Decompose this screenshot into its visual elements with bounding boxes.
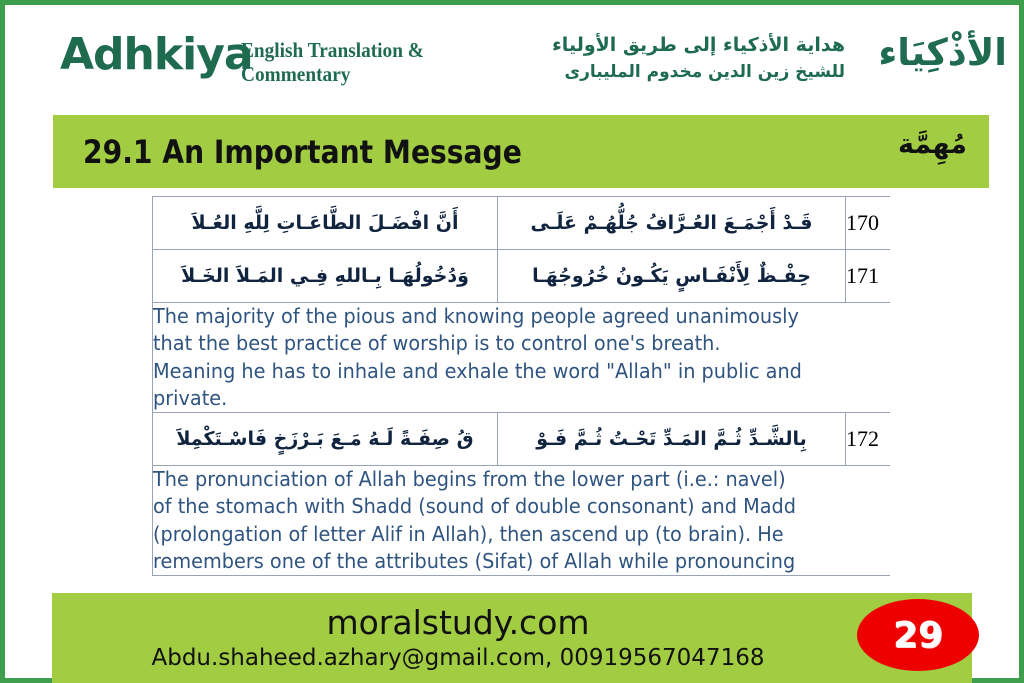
verse-number: 170: [846, 197, 891, 250]
commentary-line: remembers one of the attributes (Sifat) …: [153, 548, 846, 575]
slide-root: Adhkiya English Translation & Commentary…: [0, 0, 1024, 683]
brand-subtitle: English Translation & Commentary: [241, 39, 453, 86]
contact-info[interactable]: Abdu.shaheed.azhary@gmail.com, 009195670…: [52, 645, 864, 671]
commentary-line: The pronunciation of Allah begins from t…: [153, 466, 846, 493]
verse-hemistich-left: قُ صِفَـةً لَـهُ مَـعَ بَـرْزَخٍ فَاسْـت…: [153, 413, 498, 466]
verse-row: وَدُخُولُهَـا بِـاللهِ فِـي المَـلاَ الخ…: [153, 250, 891, 303]
verse-row: قُ صِفَـةً لَـهُ مَـعَ بَـرْزَخٍ فَاسْـت…: [153, 413, 891, 466]
arabic-book-subtitle-line-2: للشيخ زين الدين مخدوم المليبارى: [525, 60, 845, 86]
commentary-line: that the best practice of worship is to …: [153, 330, 846, 357]
verse-table: أَنَّ افْضَـلَ الطَّاعَـاتِ لِلَّهِ العُ…: [152, 196, 890, 576]
verse-table-container: أَنَّ افْضَـلَ الطَّاعَـاتِ لِلَّهِ العُ…: [152, 196, 890, 588]
commentary-text: The majority of the pious and knowing pe…: [153, 303, 891, 413]
commentary-line: The majority of the pious and knowing pe…: [153, 303, 846, 330]
verse-number: 172: [846, 413, 891, 466]
commentary-line: Meaning he has to inhale and exhale the …: [153, 358, 846, 385]
arabic-book-subtitle: هداية الأذكياء إلى طريق الأولياء للشيخ ز…: [525, 31, 845, 85]
commentary-line: (prolongation of letter Alif in Allah), …: [153, 521, 846, 548]
verse-hemistich-right: حِفْـظٌ لِأَنْفَـاسٍ يَكُـونُ خُرُوجُهَـ…: [498, 250, 846, 303]
brand-subtitle-line-1: English Translation &: [241, 39, 453, 63]
website-link[interactable]: moralstudy.com: [52, 603, 864, 642]
arabic-book-subtitle-line-1: هداية الأذكياء إلى طريق الأولياء: [525, 31, 845, 60]
page-title: 29.1 An Important Message: [83, 133, 522, 171]
verse-hemistich-left: أَنَّ افْضَـلَ الطَّاعَـاتِ لِلَّهِ العُ…: [153, 197, 498, 250]
slide-footer: moralstudy.com Abdu.shaheed.azhary@gmail…: [52, 593, 972, 683]
commentary-row: The pronunciation of Allah begins from t…: [153, 466, 891, 576]
page-number-badge: 29: [857, 599, 979, 671]
verse-hemistich-right: بِالشَّـدِّ ثُـمَّ المَـدِّ تَحْـتُ ثُـم…: [498, 413, 846, 466]
verse-row: أَنَّ افْضَـلَ الطَّاعَـاتِ لِلَّهِ العُ…: [153, 197, 891, 250]
verse-hemistich-right: قَـدْ أَجْمَـعَ العُـرَّافُ جُلُّهُـمْ ع…: [498, 197, 846, 250]
commentary-line: private.: [153, 385, 846, 412]
slide-header: Adhkiya English Translation & Commentary…: [5, 5, 1019, 108]
verse-hemistich-left: وَدُخُولُهَـا بِـاللهِ فِـي المَـلاَ الخ…: [153, 250, 498, 303]
section-title-bar: 29.1 An Important Message مُهِمَّة: [53, 115, 989, 188]
verse-number: 171: [846, 250, 891, 303]
commentary-text: The pronunciation of Allah begins from t…: [153, 466, 891, 576]
commentary-row: The majority of the pious and knowing pe…: [153, 303, 891, 413]
brand-subtitle-line-2: Commentary: [241, 63, 453, 87]
arabic-book-title: الأذْكِيَاء: [851, 29, 1007, 77]
page-number-value: 29: [857, 599, 979, 671]
commentary-line: of the stomach with Shadd (sound of doub…: [153, 493, 846, 520]
brand-logo-text: Adhkiya: [60, 33, 253, 77]
section-title-arabic: مُهِمَّة: [898, 129, 967, 160]
